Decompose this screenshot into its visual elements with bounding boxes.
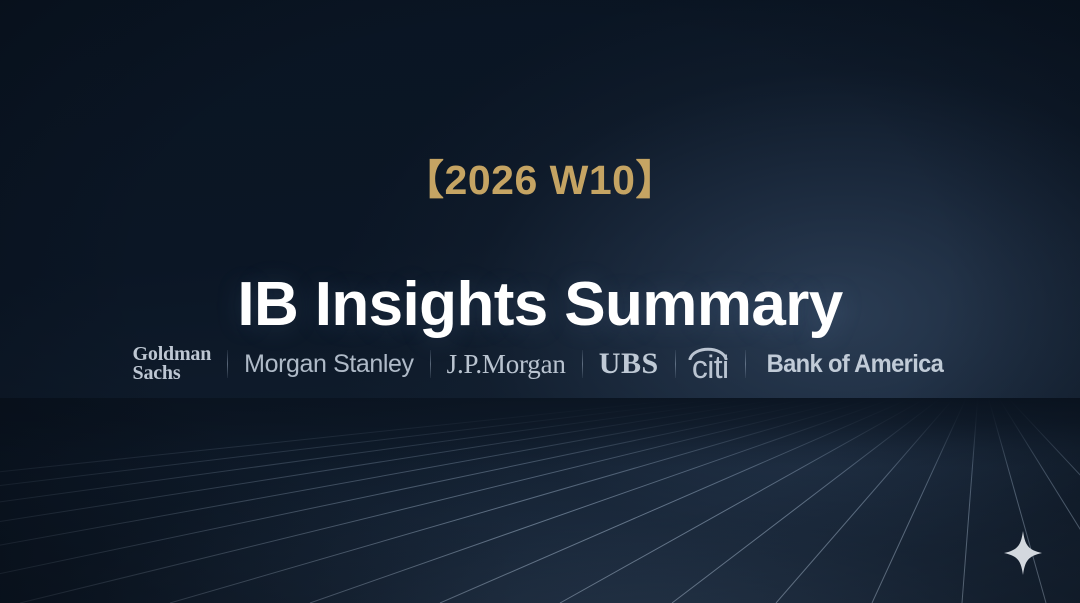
bank-logo-strip: Goldman Sachs Morgan Stanley J.P.Morgan … bbox=[0, 333, 1080, 395]
logo-goldman-sachs-line2: Sachs bbox=[133, 364, 212, 383]
edition-label: 【2026 W10】 bbox=[0, 160, 1080, 201]
logo-morgan-stanley: Morgan Stanley bbox=[228, 341, 430, 387]
presentation-slide: 【2026 W10】 IB Insights Summary Goldman S… bbox=[0, 0, 1080, 603]
logo-ubs: UBS bbox=[583, 341, 675, 387]
logo-bank-of-america: Bank of America bbox=[751, 341, 958, 387]
logo-citi: citi bbox=[676, 341, 745, 387]
page-title: IB Insights Summary bbox=[0, 270, 1080, 339]
logo-citi-text: citi bbox=[692, 349, 729, 385]
logo-goldman-sachs: Goldman Sachs bbox=[117, 341, 228, 387]
logo-separator bbox=[745, 350, 746, 378]
logo-jp-morgan: J.P.Morgan bbox=[431, 341, 582, 387]
slide-content: 【2026 W10】 IB Insights Summary Goldman S… bbox=[0, 0, 1080, 603]
